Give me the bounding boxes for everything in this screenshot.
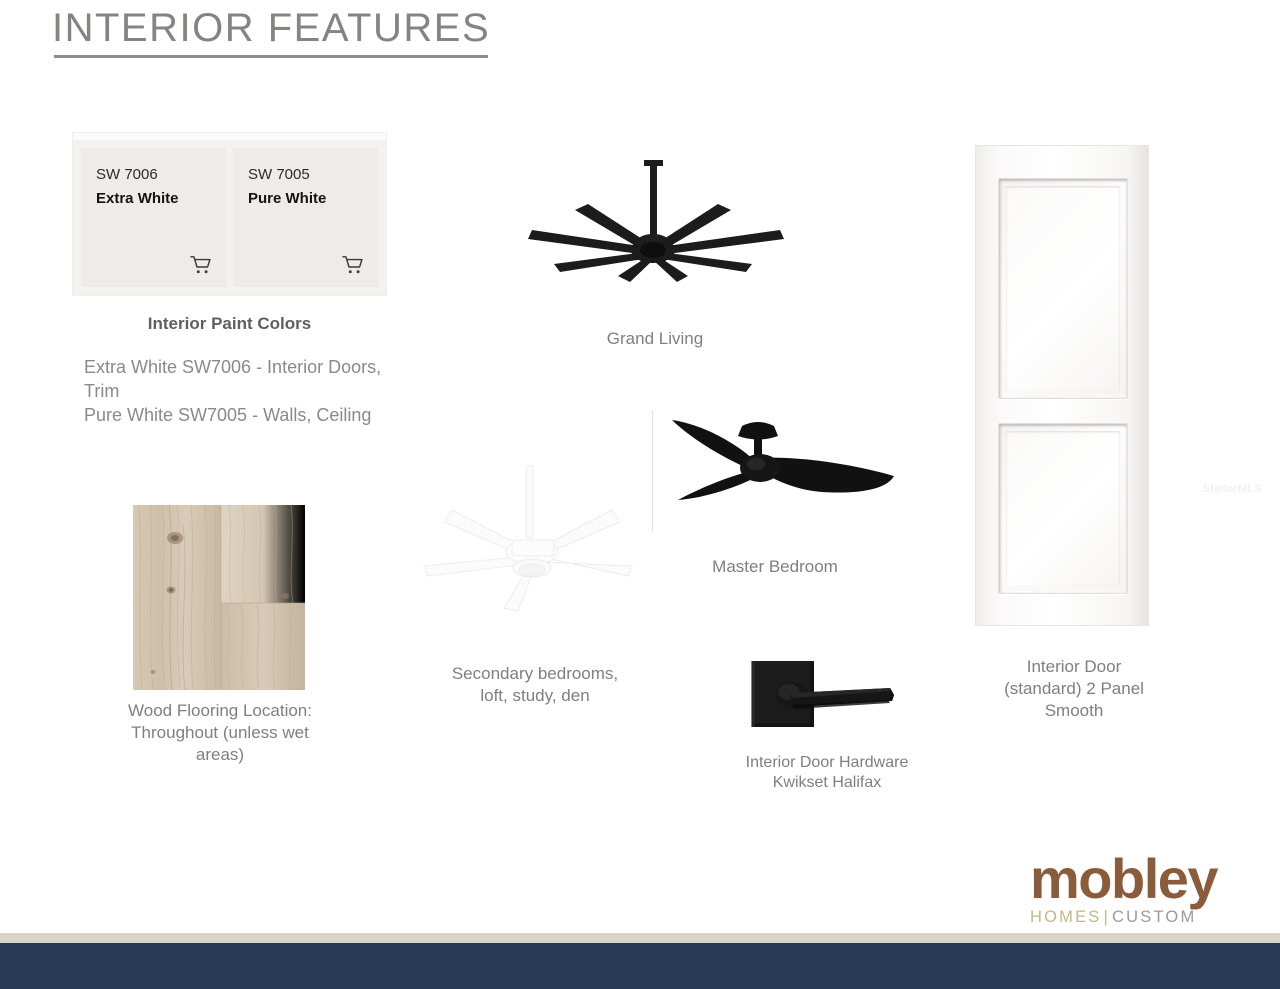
door-hardware-image bbox=[742, 655, 910, 743]
interior-door-caption: Interior Door (standard) 2 Panel Smooth bbox=[990, 656, 1158, 721]
stellar-mls-watermark: StellarMLS bbox=[1203, 483, 1262, 495]
secondary-fan-caption: Secondary bedrooms, loft, study, den bbox=[442, 663, 628, 707]
page-title: INTERIOR FEATURES bbox=[52, 6, 490, 51]
paint-swatch-pure-white[interactable]: SW 7005 Pure White bbox=[233, 148, 378, 287]
title-underline bbox=[54, 55, 488, 58]
logo-tagline: HOMES|CUSTOM bbox=[1030, 908, 1254, 927]
paint-swatch-card: SW 7006 Extra White SW 7005 Pure White bbox=[73, 133, 386, 295]
paint-colors-description: Extra White SW7006 - Interior Doors, Tri… bbox=[84, 355, 404, 427]
footer-navy-bar bbox=[0, 943, 1280, 989]
paint-swatch-name: Pure White bbox=[248, 190, 326, 207]
door-panel-bottom bbox=[998, 423, 1128, 594]
paint-swatch-code: SW 7005 bbox=[248, 166, 310, 183]
paint-colors-heading: Interior Paint Colors bbox=[73, 314, 386, 334]
footer-beige-strip bbox=[0, 933, 1280, 943]
wood-flooring-swatch bbox=[133, 505, 305, 690]
door-panel-top bbox=[998, 178, 1128, 399]
logo-custom-text: CUSTOM bbox=[1112, 908, 1196, 926]
cart-icon[interactable] bbox=[190, 255, 212, 275]
wood-flooring-caption: Wood Flooring Location: Throughout (unle… bbox=[110, 700, 330, 765]
grand-living-caption: Grand Living bbox=[540, 328, 770, 350]
wood-flooring-image bbox=[133, 505, 305, 690]
cart-icon[interactable] bbox=[342, 255, 364, 275]
door-hardware-caption: Interior Door Hardware Kwikset Halifax bbox=[732, 753, 922, 794]
interior-door-image bbox=[976, 146, 1148, 625]
vertical-divider bbox=[652, 410, 653, 532]
logo-separator: | bbox=[1104, 908, 1111, 926]
master-bedroom-caption: Master Bedroom bbox=[682, 556, 868, 578]
logo-homes-text: HOMES bbox=[1030, 908, 1102, 926]
paint-swatch-code: SW 7006 bbox=[96, 166, 158, 183]
logo-wordmark: mobley bbox=[1030, 852, 1254, 906]
secondary-fan-image bbox=[416, 458, 651, 618]
paint-swatch-extra-white[interactable]: SW 7006 Extra White bbox=[81, 148, 226, 287]
paint-swatch-name: Extra White bbox=[96, 190, 179, 207]
grand-living-fan-image bbox=[520, 160, 792, 290]
master-bedroom-fan-image bbox=[660, 418, 900, 528]
mobley-logo: mobley HOMES|CUSTOM bbox=[1030, 852, 1254, 927]
